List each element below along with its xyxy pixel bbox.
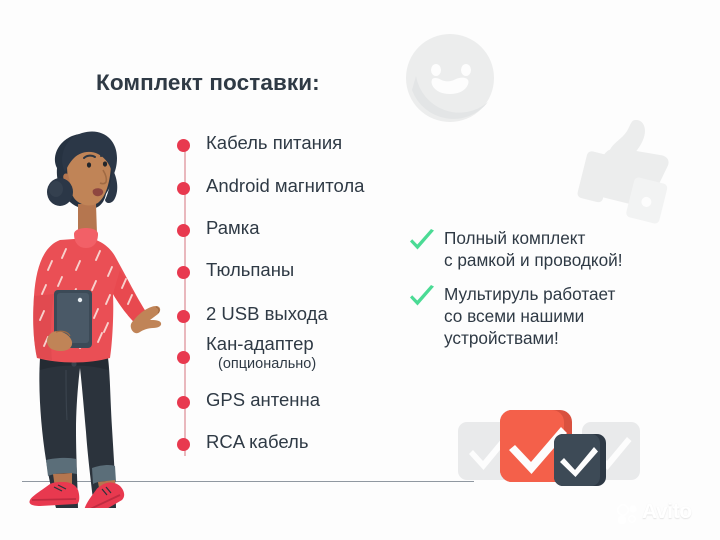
tablet-camera — [78, 298, 82, 302]
check-icon — [408, 285, 436, 311]
bullet-dot-icon — [177, 438, 190, 451]
list-item-label: Тюльпаны — [206, 260, 294, 279]
avito-logo-icon — [616, 502, 642, 528]
benefit-item: Мультируль работает со всеми нашими устр… — [408, 284, 708, 349]
benefit-text: Мультируль работает со всеми нашими устр… — [444, 284, 708, 349]
shoe-sole-left — [32, 499, 76, 500]
smiley-face-icon — [404, 32, 496, 124]
benefit-text: Полный комплект с рамкой и проводкой! — [444, 228, 708, 271]
bullet-dot-icon — [177, 224, 190, 237]
kit-contents-list: Кабель питания Android магнитола Рамка Т… — [176, 132, 428, 462]
avito-watermark: Avito — [616, 500, 708, 526]
benefits-list: Полный комплект с рамкой и проводкой! Му… — [408, 228, 708, 362]
eye-left — [87, 162, 91, 167]
list-item-label: 2 USB выхода — [206, 304, 328, 323]
page-title: Комплект поставки: — [96, 70, 320, 96]
list-item-label: RCA кабель — [206, 432, 308, 451]
list-item-sublabel: (опционально) — [218, 356, 316, 372]
woman-pointing-illustration — [10, 108, 166, 508]
list-item-label: Рамка — [206, 218, 260, 237]
bullet-dot-icon — [177, 310, 190, 323]
hair-bun-highlight — [49, 181, 63, 197]
list-item-label: Android магнитола — [206, 176, 364, 195]
checkbox-cards-group — [458, 404, 640, 496]
bullet-dot-icon — [177, 351, 190, 364]
bullet-dot-icon — [177, 139, 190, 152]
shoe-left — [29, 482, 79, 506]
benefit-item: Полный комплект с рамкой и проводкой! — [408, 228, 708, 271]
bullet-dot-icon — [177, 182, 190, 195]
thumbs-up-icon — [572, 112, 680, 224]
bullet-dot-icon — [177, 396, 190, 409]
promo-image-canvas: Комплект поставки: Кабель питания Androi… — [0, 0, 720, 540]
eye-right — [103, 161, 107, 166]
list-item-label: GPS антенна — [206, 390, 320, 409]
sleeve-left-shade — [33, 294, 54, 360]
bullet-dot-icon — [177, 266, 190, 279]
checkbox-card-dark — [554, 434, 606, 486]
list-item-label: Кан-адаптер — [206, 334, 314, 353]
check-icon — [408, 229, 436, 255]
list-item-label: Кабель питания — [206, 133, 342, 152]
avito-wordmark: Avito — [642, 500, 692, 524]
